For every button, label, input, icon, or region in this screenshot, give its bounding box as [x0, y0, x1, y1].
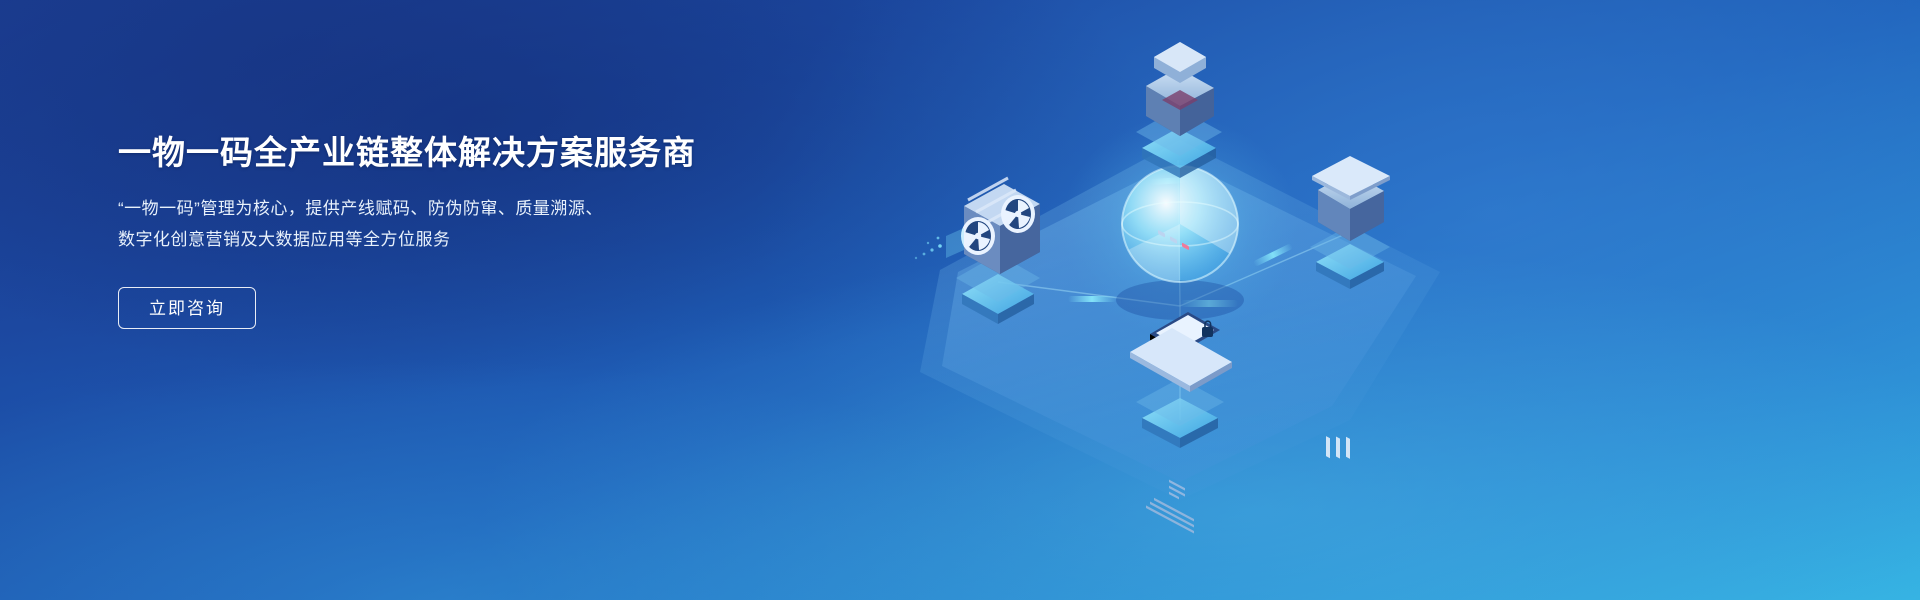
keyboard-keys	[1146, 498, 1194, 534]
consult-now-button[interactable]: 立即咨询	[118, 287, 256, 329]
data-particles	[915, 228, 964, 259]
server-fan-rack-icon	[915, 178, 1040, 324]
hero-copy: 一物一码全产业链整体解决方案服务商 “一物一码”管理为核心，提供产线赋码、防伪防…	[118, 132, 878, 329]
hero-subtitle-line-1: “一物一码”管理为核心，提供产线赋码、防伪防窜、质量溯源、	[118, 193, 878, 224]
page-title: 一物一码全产业链整体解决方案服务商	[118, 132, 878, 173]
hero-banner: 一物一码全产业链整体解决方案服务商 “一物一码”管理为核心，提供产线赋码、防伪防…	[0, 0, 1920, 600]
isometric-illustration	[880, 0, 1520, 600]
hero-subtitle: “一物一码”管理为核心，提供产线赋码、防伪防窜、质量溯源、 数字化创意营销及大数…	[118, 193, 878, 255]
hero-subtitle-line-2: 数字化创意营销及大数据应用等全方位服务	[118, 224, 878, 255]
